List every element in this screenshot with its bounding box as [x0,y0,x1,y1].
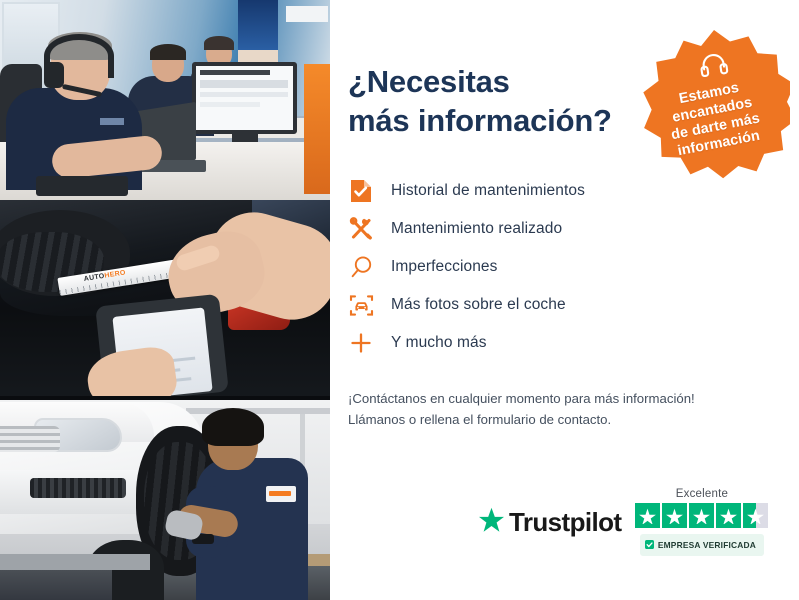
trustpilot-logo: Trustpilot [478,507,621,538]
monitor-screen-row [200,92,288,97]
contact-line-2: Llámanos o rellena el formulario de cont… [348,409,799,430]
background-colleague-hair [150,44,186,60]
inspector-hand-lower [84,344,179,400]
car-bumper-vent [30,478,126,498]
background-colleague-two-hair [204,36,234,50]
headline-line-1: ¿Necesitas [348,64,510,99]
photo-column: AUTOHERO [0,0,330,600]
monitor-screen-header [200,70,270,75]
trustpilot-brand-name: Trustpilot [509,507,621,538]
page-title: ¿Necesitas más información? [348,62,648,140]
star-filled [662,503,687,528]
ruler-brand-suffix: HERO [104,269,126,279]
car-lift-base [0,570,112,600]
star-half [743,503,768,528]
car-inspection-ruler-photo: AUTOHERO [0,200,330,400]
magnifier-icon [348,254,374,280]
desk-tablet [36,176,128,196]
car-photo-frame-icon [348,292,374,318]
car-grille [0,426,60,452]
desktop-monitor [192,62,297,134]
content-panel: ¿Necesitas más información? Historial de… [330,0,799,600]
trustpilot-rating-label: Excelente [676,488,728,500]
trustpilot-rating[interactable]: Trustpilot Excelente [478,488,768,556]
feature-label: Más fotos sobre el coche [391,296,566,314]
document-check-icon [348,178,374,204]
feature-label: Y mucho más [391,334,487,352]
contact-line-1: ¡Contáctanos en cualquier momento para m… [348,388,799,409]
star-filled [689,503,714,528]
feature-list: Historial de mantenimientos Mantenimient… [348,172,799,362]
feature-label: Historial de mantenimientos [391,182,585,200]
plus-icon [348,330,374,356]
feature-item-imperfecciones: Imperfecciones [348,248,799,286]
call-center-agent-photo [0,0,330,200]
verified-company-label: EMPRESA VERIFICADA [658,540,756,550]
feature-item-mantenimiento: Mantenimiento realizado [348,210,799,248]
monitor-screen-row [200,80,288,88]
verified-company-badge: EMPRESA VERIFICADA [640,534,764,556]
ruler-brand-prefix: AUTO [83,273,105,283]
verified-check-icon [645,536,654,554]
workshop-shelf [186,408,330,414]
star-filled [716,503,741,528]
feature-label: Mantenimiento realizado [391,220,562,238]
mechanic-hair [202,408,264,446]
headset-icon [697,50,731,85]
agent-shirt-logo [100,118,124,125]
feature-label: Imperfecciones [391,258,498,276]
trustpilot-star-icon [478,507,505,538]
wall-board [286,6,328,22]
information-promo-card: AUTOHERO [0,0,799,600]
mechanic-shirt-logo [266,486,296,502]
monitor-screen-row [200,102,260,107]
headline-line-2: más información? [348,103,612,138]
mechanic-wheel-photo [0,400,330,600]
trustpilot-score-block: Excelente [635,488,768,556]
shirt-logo-bar [269,491,291,496]
car-lift-arm [0,554,150,570]
trustpilot-stars [635,503,768,528]
wall-poster [238,0,278,50]
orange-equipment [304,64,330,194]
star-filled [635,503,660,528]
status-badge: Estamos encantados de darte más informac… [638,30,790,182]
feature-item-mas: Y mucho más [348,324,799,362]
contact-text: ¡Contáctanos en cualquier momento para m… [348,388,799,431]
feature-item-fotos: Más fotos sobre el coche [348,286,799,324]
tools-cross-icon [348,216,374,242]
agent-headset-earcup [44,62,64,88]
